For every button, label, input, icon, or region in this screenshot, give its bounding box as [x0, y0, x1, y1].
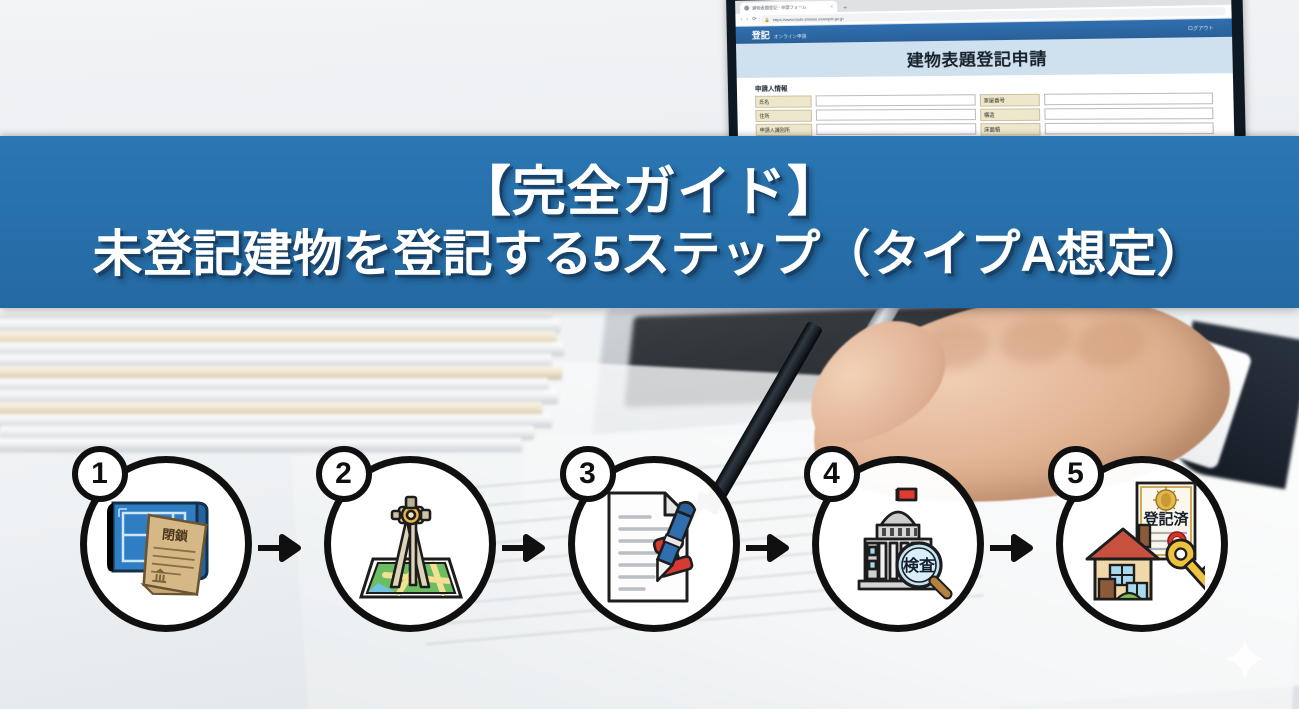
url-text: https://www.touki-shinsei.example.go.jp	[773, 15, 844, 21]
step-3[interactable]: 3	[554, 450, 746, 646]
step-1[interactable]: 閉鎖 1	[66, 450, 258, 646]
site-logo[interactable]: 登記 オンライン申請	[752, 28, 807, 42]
back-icon[interactable]: ‹	[740, 17, 742, 23]
forward-icon[interactable]: ›	[746, 17, 748, 23]
field-input-house-number[interactable]	[1043, 93, 1213, 106]
step-flow: 閉鎖 1	[0, 448, 1299, 648]
sparkle-icon	[1225, 638, 1265, 680]
step-5[interactable]: 登記済	[1042, 450, 1234, 646]
slide-canvas: 建物表題登記 - 申請フォーム × + ‹ › ⟳ 🔒 https://www.…	[0, 0, 1299, 709]
form-field-grid: 氏名 家屋番号 住所 構造 申請人識別所 床面積	[755, 93, 1214, 136]
field-input-address[interactable]	[816, 109, 976, 121]
arrow-3-to-4	[746, 528, 798, 568]
site-logo-main: 登記	[752, 28, 770, 41]
blueprint-and-deed-icon: 閉鎖	[103, 481, 229, 607]
step-5-number: 5	[1048, 446, 1104, 502]
field-input-structure[interactable]	[1044, 107, 1214, 119]
tab-title: 建物表題登記 - 申請フォーム	[752, 4, 806, 11]
arrow-1-to-2	[258, 528, 310, 568]
field-input-applicant-id[interactable]	[816, 123, 976, 135]
form-section-title: 申請人情報	[755, 79, 1213, 93]
step-3-number: 3	[560, 446, 616, 502]
document-with-seal-and-pen-icon	[591, 481, 717, 607]
field-label-name: 氏名	[755, 95, 812, 107]
field-input-name[interactable]	[816, 94, 976, 106]
site-logo-sub: オンライン申請	[774, 34, 807, 41]
banner-title-line2: 未登記建物を登記する5ステップ（タイプA想定）	[93, 228, 1207, 281]
applicant-form: 申請人情報 氏名 家屋番号 住所 構造 申請人識別所 床面積	[737, 73, 1235, 136]
lock-icon: 🔒	[765, 17, 770, 22]
magnifier-label: 検査	[902, 556, 934, 575]
arrow-4-to-5	[990, 528, 1042, 568]
reload-icon[interactable]: ⟳	[752, 16, 757, 22]
banner-title-line1: 【完全ガイド】	[457, 164, 842, 221]
laptop-screen: 建物表題登記 - 申請フォーム × + ‹ › ⟳ 🔒 https://www.…	[726, 0, 1246, 140]
surveying-theodolite-on-map-icon	[347, 481, 473, 607]
tab-close-icon[interactable]: ×	[830, 4, 833, 9]
field-label-address: 住所	[755, 110, 812, 122]
browser-tab[interactable]: 建物表題登記 - 申請フォーム ×	[740, 1, 837, 14]
field-label-floor-area: 床面積	[980, 123, 1040, 136]
form-page-title: 建物表題登記申請	[907, 45, 1048, 71]
step-4[interactable]: 検査 4	[798, 450, 990, 646]
form-page-title-band: 建物表題登記申請	[736, 37, 1233, 78]
new-tab-button[interactable]: +	[840, 6, 850, 12]
svg-text:閉鎖: 閉鎖	[161, 527, 190, 546]
step-2-number: 2	[316, 446, 372, 502]
title-banner: 【完全ガイド】 未登記建物を登記する5ステップ（タイプA想定）	[0, 136, 1299, 308]
arrow-2-to-3	[502, 528, 554, 568]
registered-house-certificate-key-icon: 登記済	[1079, 481, 1205, 607]
field-label-applicant-id: 申請人識別所	[756, 124, 813, 136]
tab-favicon	[744, 6, 749, 11]
step-2[interactable]: 2	[310, 450, 502, 646]
field-label-house-number: 家屋番号	[979, 94, 1039, 107]
field-label-structure: 構造	[980, 108, 1040, 121]
logout-link[interactable]: ログアウト	[1188, 25, 1214, 32]
browser-window: 建物表題登記 - 申請フォーム × + ‹ › ⟳ 🔒 https://www.…	[735, 0, 1234, 140]
step-1-number: 1	[72, 446, 128, 502]
step-4-number: 4	[804, 446, 860, 502]
field-input-floor-area[interactable]	[1044, 122, 1214, 134]
government-office-inspection-icon: 検査	[835, 481, 961, 607]
